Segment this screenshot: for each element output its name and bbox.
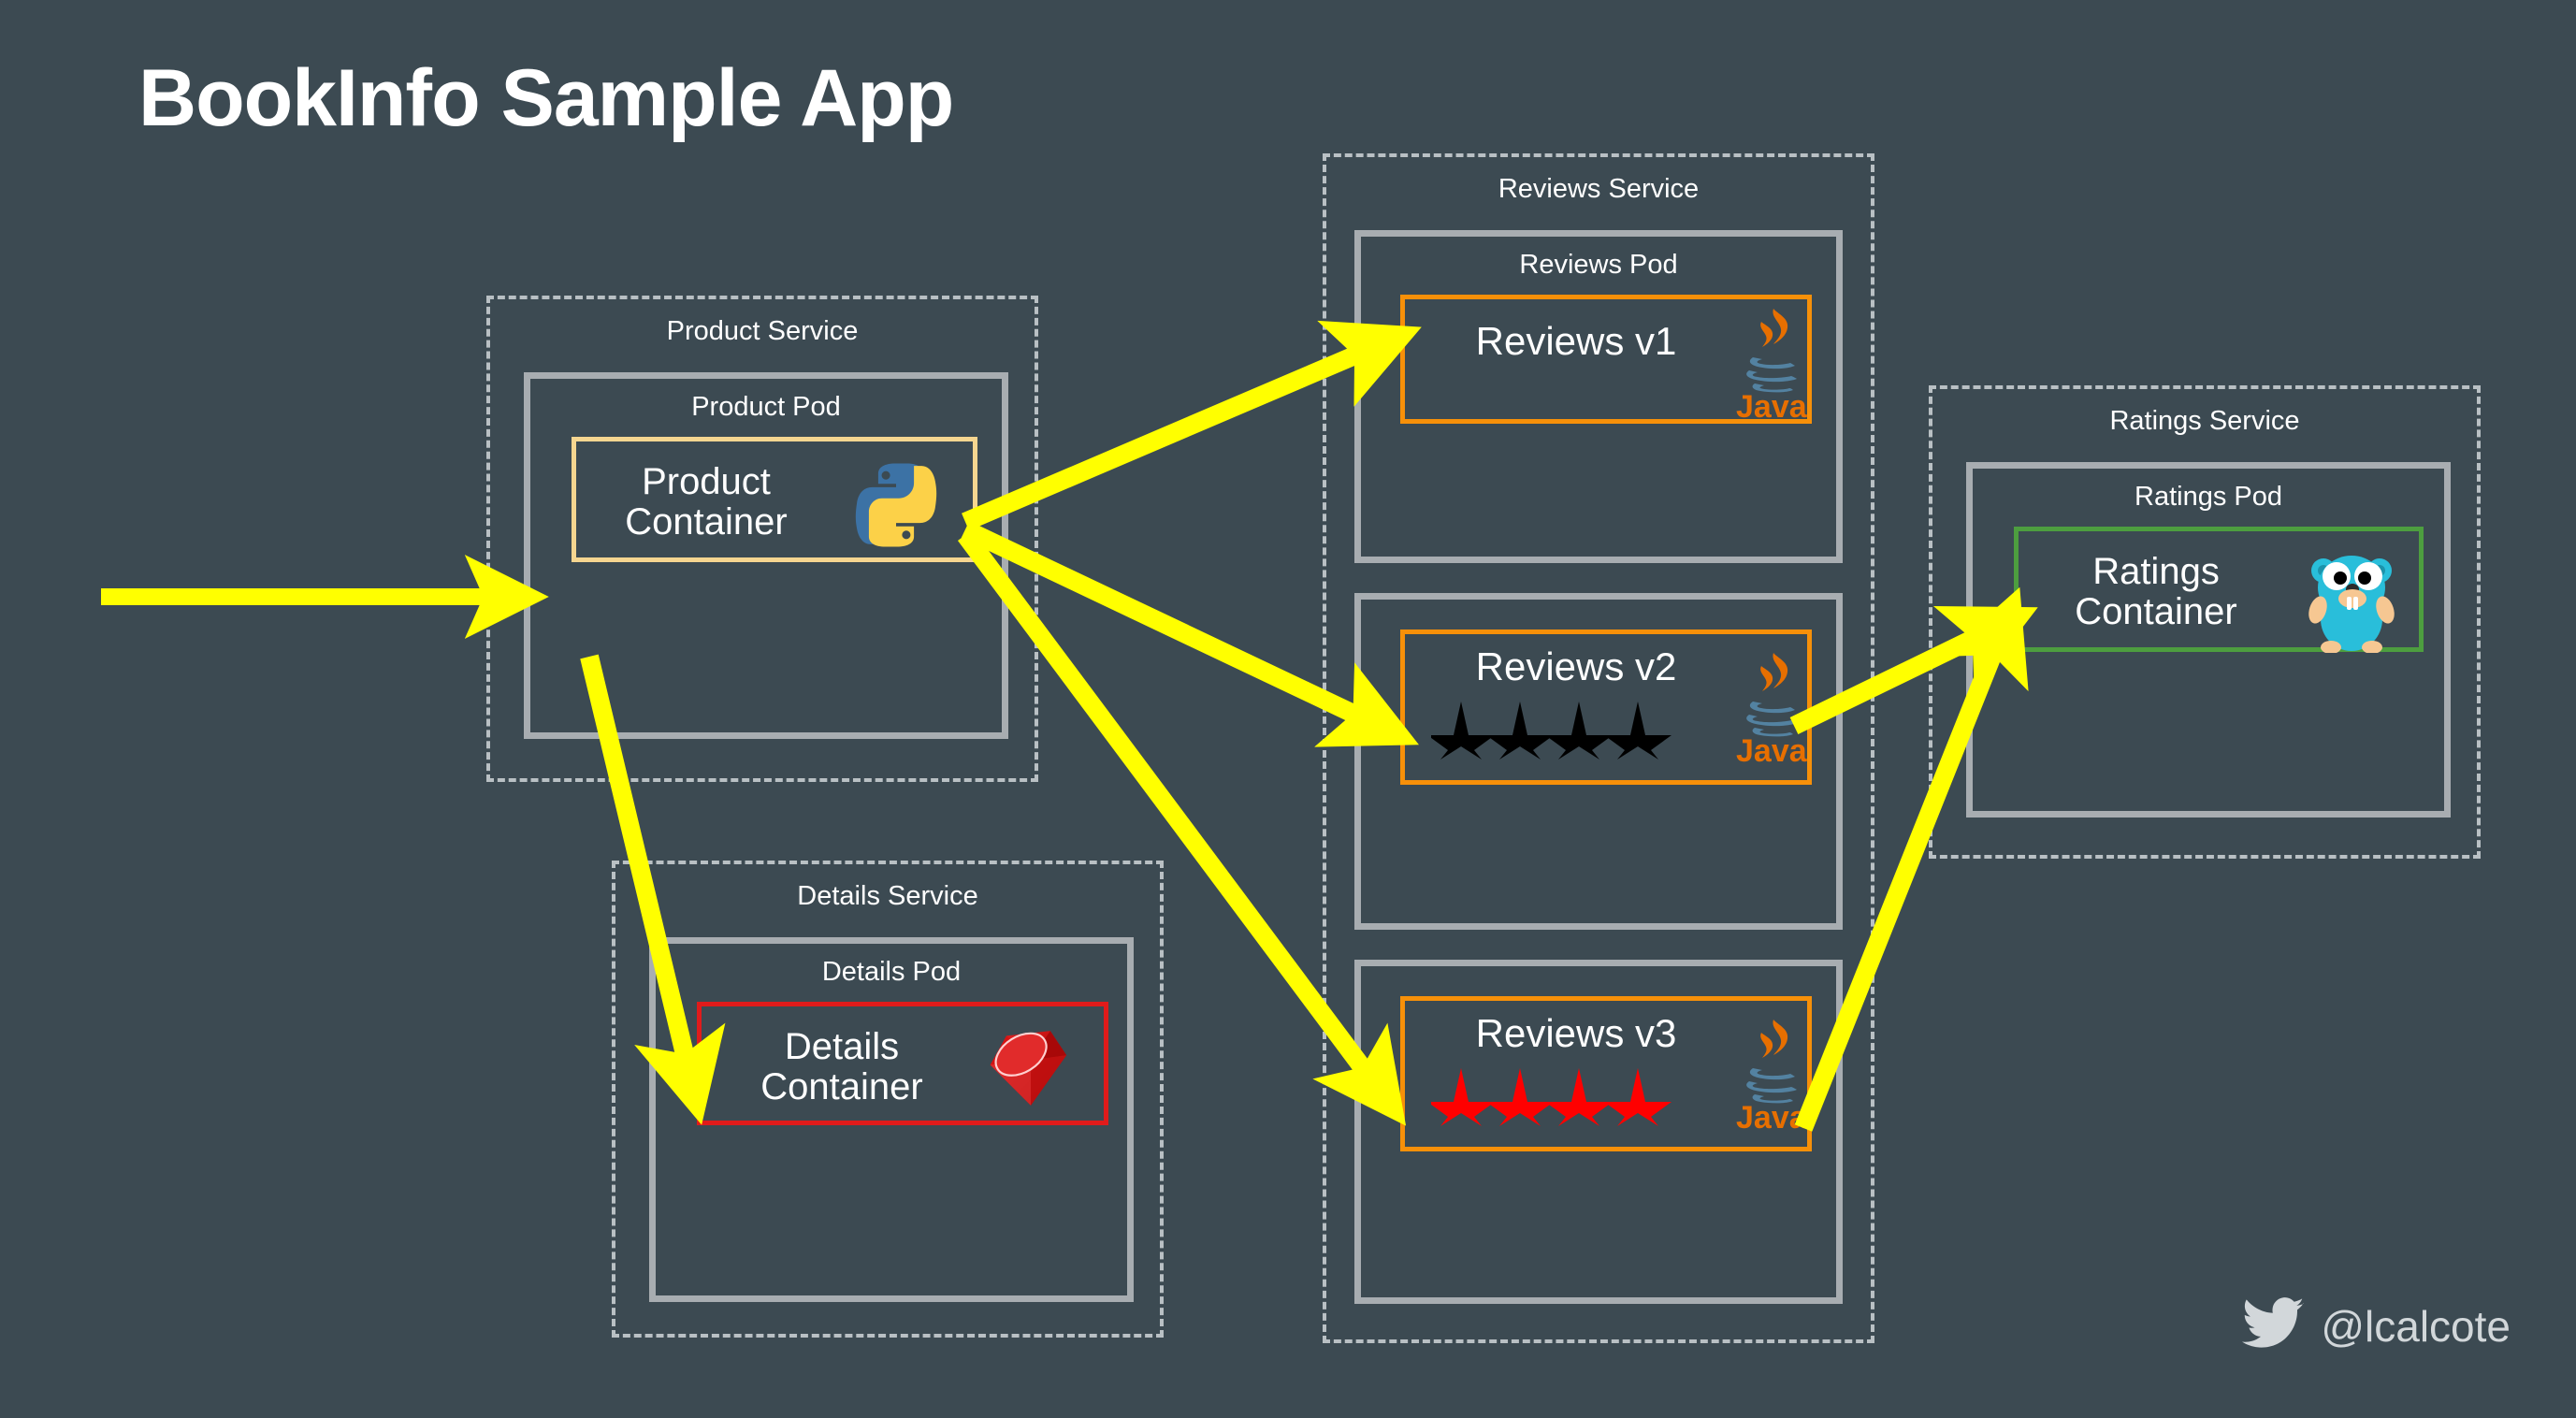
svg-text:Java: Java <box>1736 389 1807 419</box>
reviews-pod-label: Reviews Pod <box>1361 250 1836 281</box>
footer-handle-text: @lcalcote <box>2321 1301 2511 1352</box>
twitter-bird-icon <box>2242 1297 2304 1354</box>
svg-text:Java: Java <box>1736 733 1807 763</box>
ruby-logo <box>982 1020 1079 1121</box>
reviews-pod-v3-boundary: Reviews v3 <box>1354 960 1843 1304</box>
reviews-v3-container[interactable]: Reviews v3 <box>1400 996 1812 1151</box>
ratings-container[interactable]: Ratings Container <box>2014 527 2424 652</box>
go-gopher-logo <box>2299 537 2404 658</box>
reviews-service-label: Reviews Service <box>1326 174 1871 205</box>
ratings-pod-boundary: Ratings Pod Ratings Container <box>1966 462 2451 818</box>
python-logo <box>849 458 943 557</box>
ratings-service-boundary: Ratings Service Ratings Pod Ratings Cont… <box>1929 385 2481 859</box>
slide-canvas: BookInfo Sample App Product Service Prod… <box>0 0 2576 1418</box>
details-container-label: Details Container <box>720 1027 963 1107</box>
product-pod-boundary: Product Pod Product Container <box>524 372 1008 739</box>
ratings-container-label: Ratings Container <box>2033 552 2279 632</box>
details-pod-boundary: Details Pod Details Container <box>649 937 1134 1302</box>
reviews-v2-container[interactable]: Reviews v2 <box>1400 629 1812 785</box>
ratings-service-label: Ratings Service <box>1932 406 2477 437</box>
reviews-v2-star-rating <box>1431 696 1674 763</box>
product-pod-label: Product Pod <box>530 392 1002 423</box>
page-title: BookInfo Sample App <box>138 52 953 145</box>
reviews-v3-star-rating <box>1431 1063 1674 1130</box>
details-service-label: Details Service <box>615 881 1160 912</box>
ratings-pod-label: Ratings Pod <box>1973 482 2444 513</box>
reviews-pod-boundary: Reviews Pod Reviews v1 Java <box>1354 230 1843 563</box>
details-pod-label: Details Pod <box>656 957 1127 988</box>
reviews-v1-label: Reviews v1 <box>1431 320 1721 362</box>
details-container[interactable]: Details Container <box>697 1002 1108 1125</box>
reviews-service-boundary: Reviews Service Reviews Pod Reviews v1 J… <box>1323 153 1874 1343</box>
reviews-v1-container[interactable]: Reviews v1 Java <box>1400 295 1812 424</box>
product-service-label: Product Service <box>490 316 1035 347</box>
footer-handle[interactable]: @lcalcote <box>2242 1297 2511 1354</box>
reviews-pod-v2-boundary: Reviews v2 <box>1354 593 1843 930</box>
product-service-boundary: Product Service Product Pod Product Cont… <box>486 296 1038 782</box>
reviews-v2-label: Reviews v2 <box>1431 645 1721 687</box>
svg-text:Java: Java <box>1736 1100 1807 1130</box>
star-icon-group <box>1431 1063 1674 1130</box>
java-logo: Java <box>1732 305 1807 424</box>
reviews-v3-label: Reviews v3 <box>1431 1012 1721 1054</box>
details-service-boundary: Details Service Details Pod Details Cont… <box>612 861 1164 1338</box>
star-icon-group <box>1431 696 1674 763</box>
java-logo: Java <box>1732 649 1807 768</box>
java-logo: Java <box>1732 1016 1807 1135</box>
product-container[interactable]: Product Container <box>572 437 977 562</box>
product-container-label: Product Container <box>589 462 823 543</box>
